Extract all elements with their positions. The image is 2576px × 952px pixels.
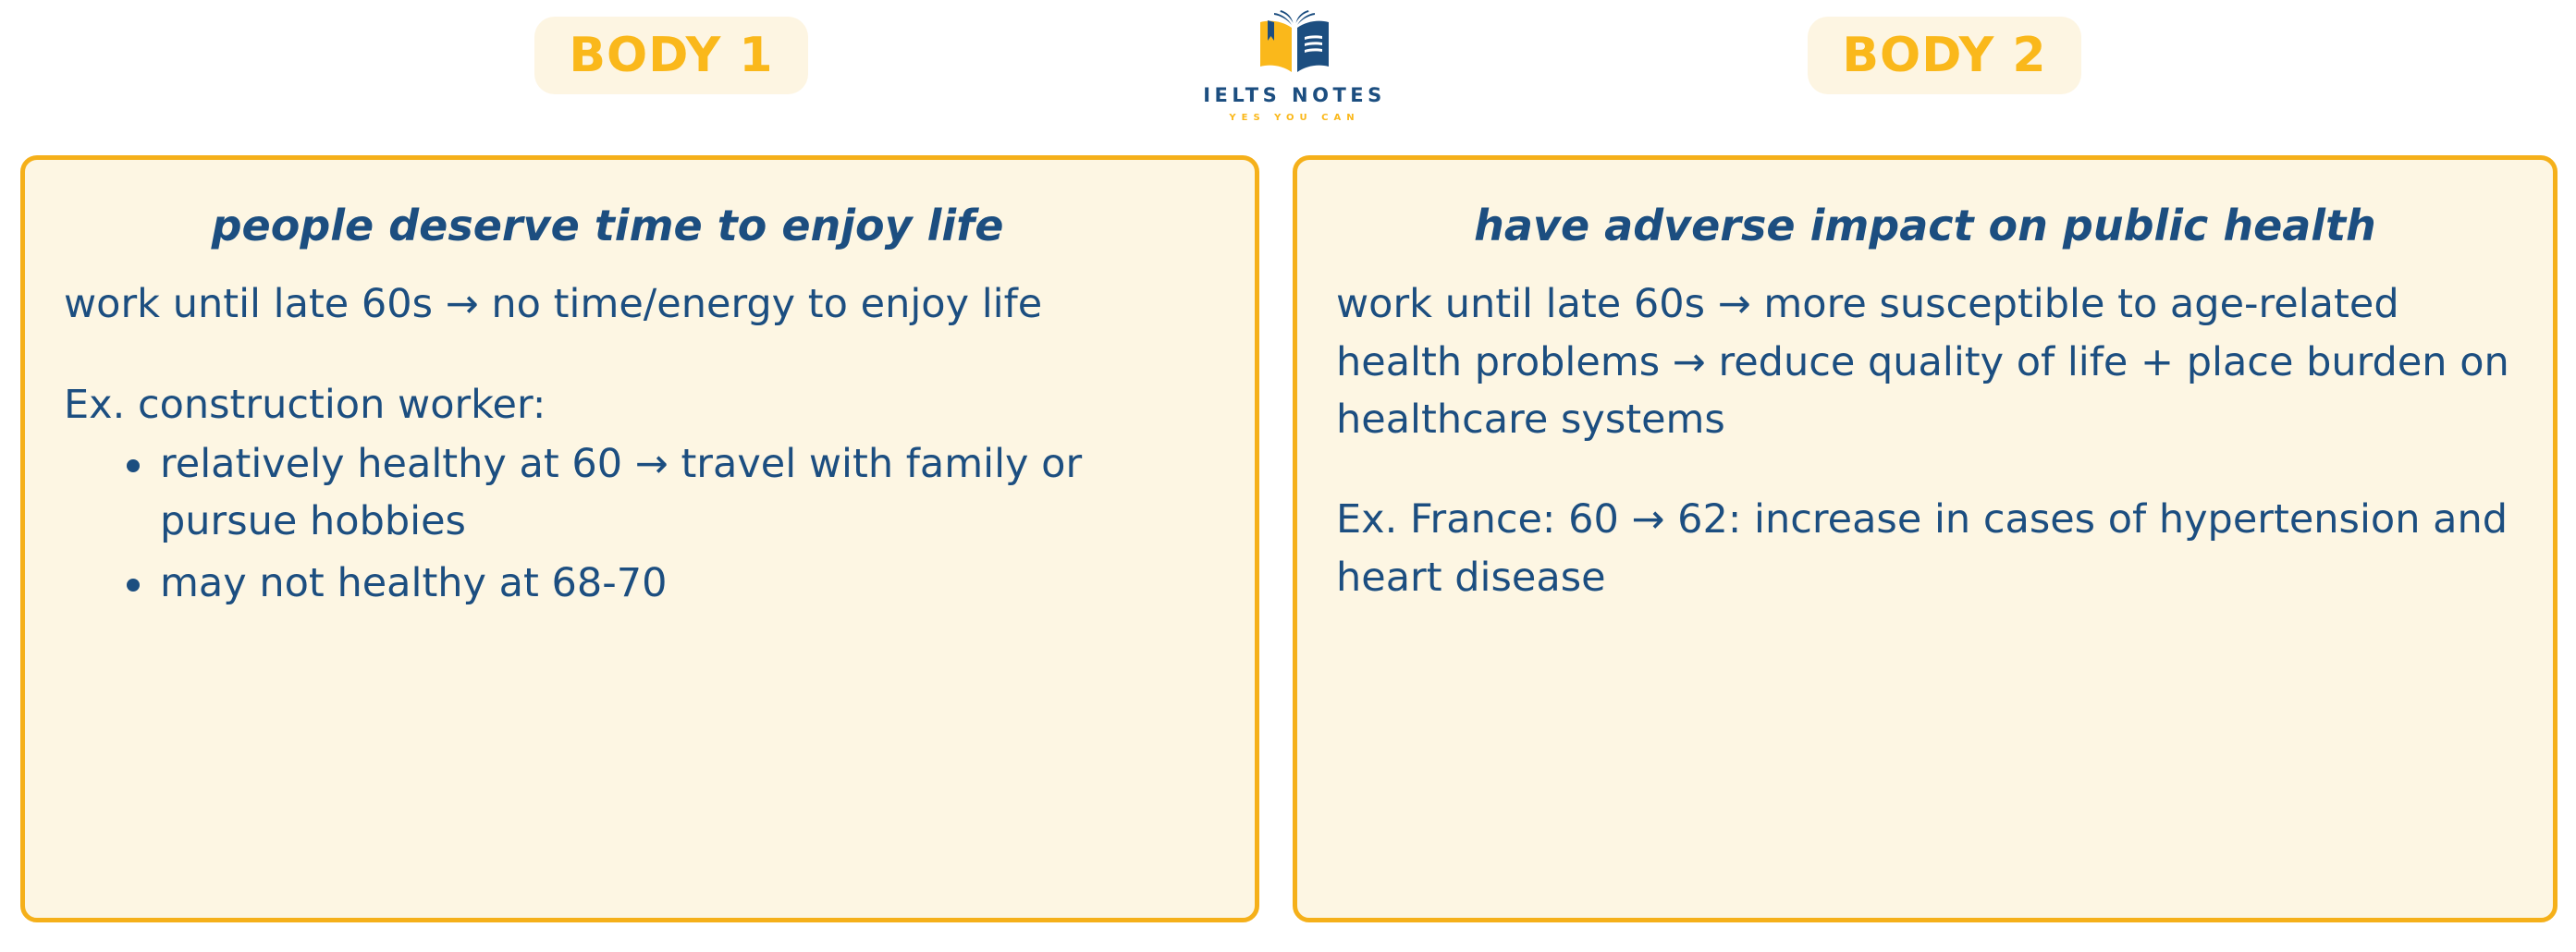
logo-wordmark: IELTS NOTES <box>1203 86 1386 105</box>
list-item: may not healthy at 68-70 <box>121 555 1216 612</box>
badge-body-2: BODY 2 <box>1808 17 2081 94</box>
paragraph-gap <box>64 334 1216 376</box>
badge-body-1: BODY 1 <box>534 17 808 94</box>
card-body-1-paragraph-1: work until late 60s → no time/energy to … <box>64 275 1216 333</box>
list-item: relatively healthy at 60 → travel with f… <box>121 435 1216 551</box>
card-body-1-paragraph-2: Ex. construction worker: <box>64 376 1216 433</box>
badge-body-2-label: BODY 2 <box>1842 31 2046 79</box>
logo-tagline: YES YOU CAN <box>1229 114 1359 123</box>
card-body-2-paragraph-1: work until late 60s → more susceptible t… <box>1336 275 2514 448</box>
card-body-1-title: people deserve time to enjoy life <box>64 201 1216 251</box>
paragraph-gap <box>1336 448 2514 491</box>
badge-body-1-label: BODY 1 <box>569 31 773 79</box>
card-body-2-title: have adverse impact on public health <box>1336 201 2514 251</box>
card-body-1-bullet-list: relatively healthy at 60 → travel with f… <box>64 435 1216 612</box>
card-body-2-paragraph-2: Ex. France: 60 → 62: increase in cases o… <box>1336 491 2514 606</box>
card-body-1: people deserve time to enjoy life work u… <box>20 155 1259 922</box>
card-body-2: have adverse impact on public health wor… <box>1293 155 2558 922</box>
brand-logo: IELTS NOTES YES YOU CAN <box>1211 7 1378 123</box>
open-book-icon <box>1252 7 1337 79</box>
header-row: BODY 1 IELTS NOTES YES YOU CAN BODY 2 <box>0 0 2576 166</box>
